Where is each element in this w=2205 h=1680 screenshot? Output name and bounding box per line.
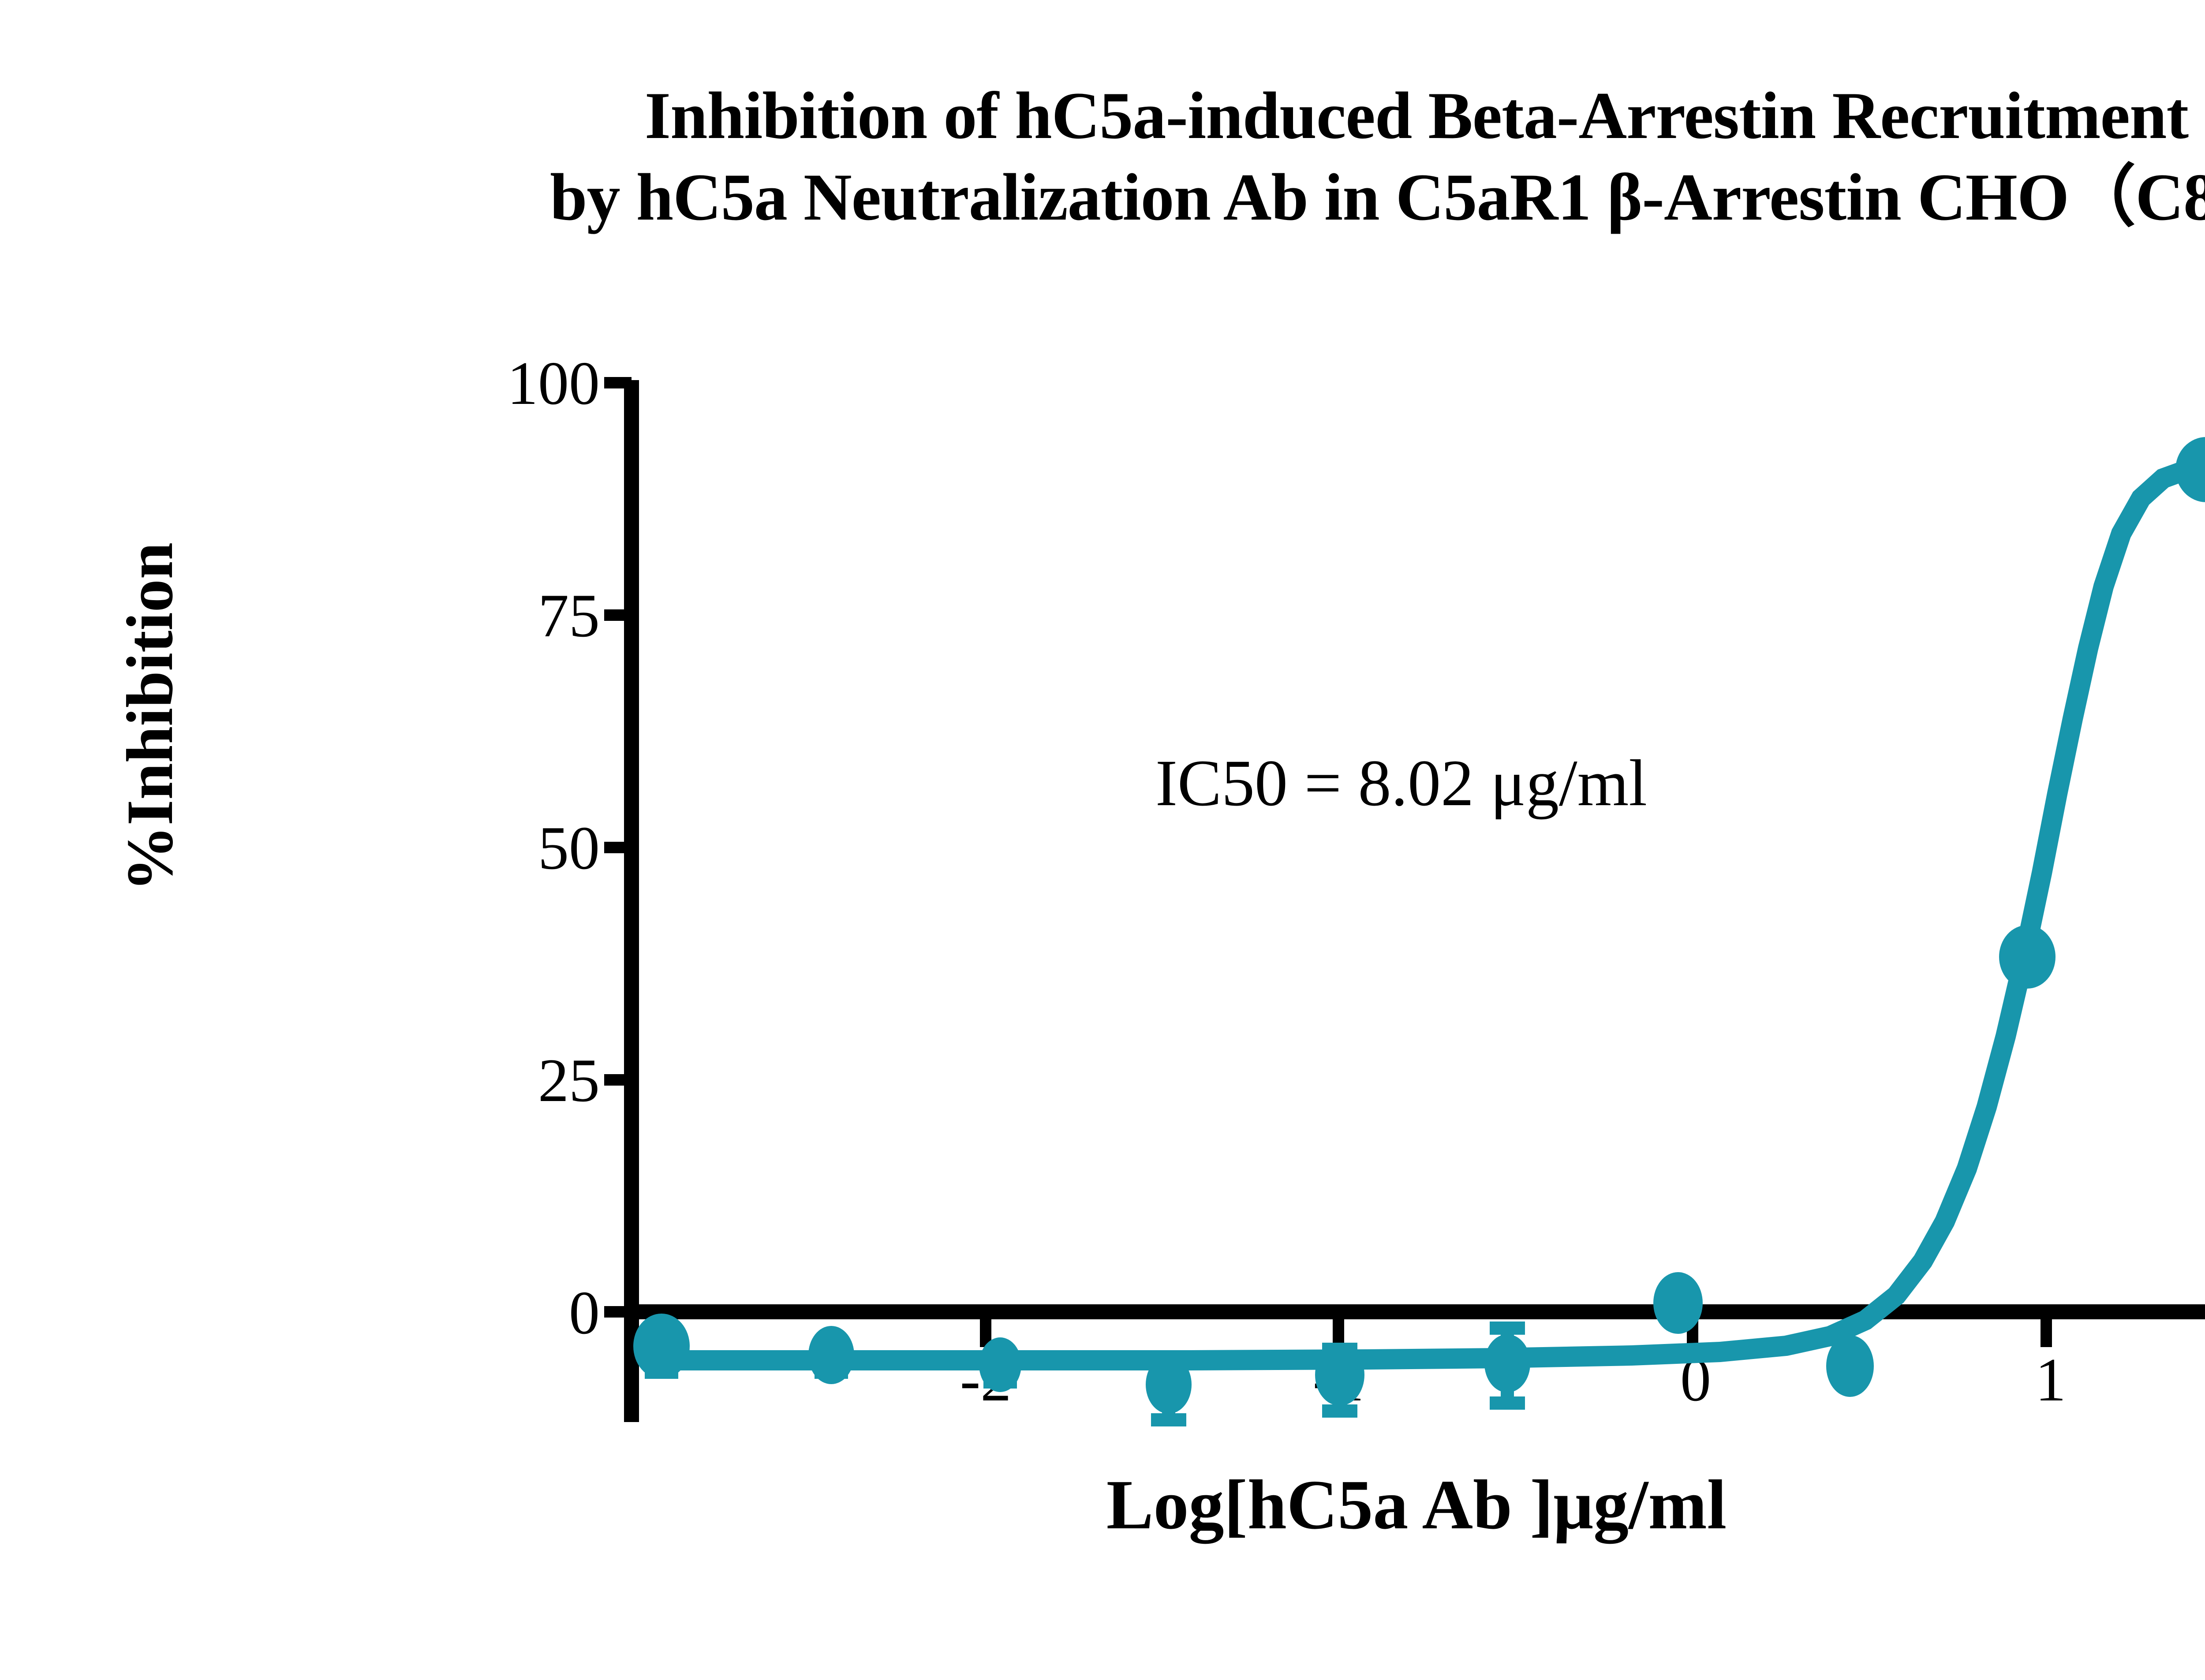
axis-lines [624,380,2205,1422]
data-point[interactable] [1484,1334,1530,1393]
data-point[interactable] [1146,1355,1192,1414]
data-point[interactable] [1826,1335,1874,1397]
data-point[interactable] [1653,1272,1703,1334]
data-point[interactable] [2175,437,2205,502]
fit-curve [661,466,2205,1360]
data-point[interactable] [633,1314,690,1379]
plot-area [0,0,2205,1680]
data-points [633,437,2205,1414]
data-point[interactable] [808,1326,854,1384]
data-point[interactable] [1315,1344,1364,1406]
data-point[interactable] [1999,925,2056,989]
figure-root: Inhibition of hC5a-induced Beta-Arrestin… [0,0,2205,1680]
data-point[interactable] [979,1337,1021,1392]
